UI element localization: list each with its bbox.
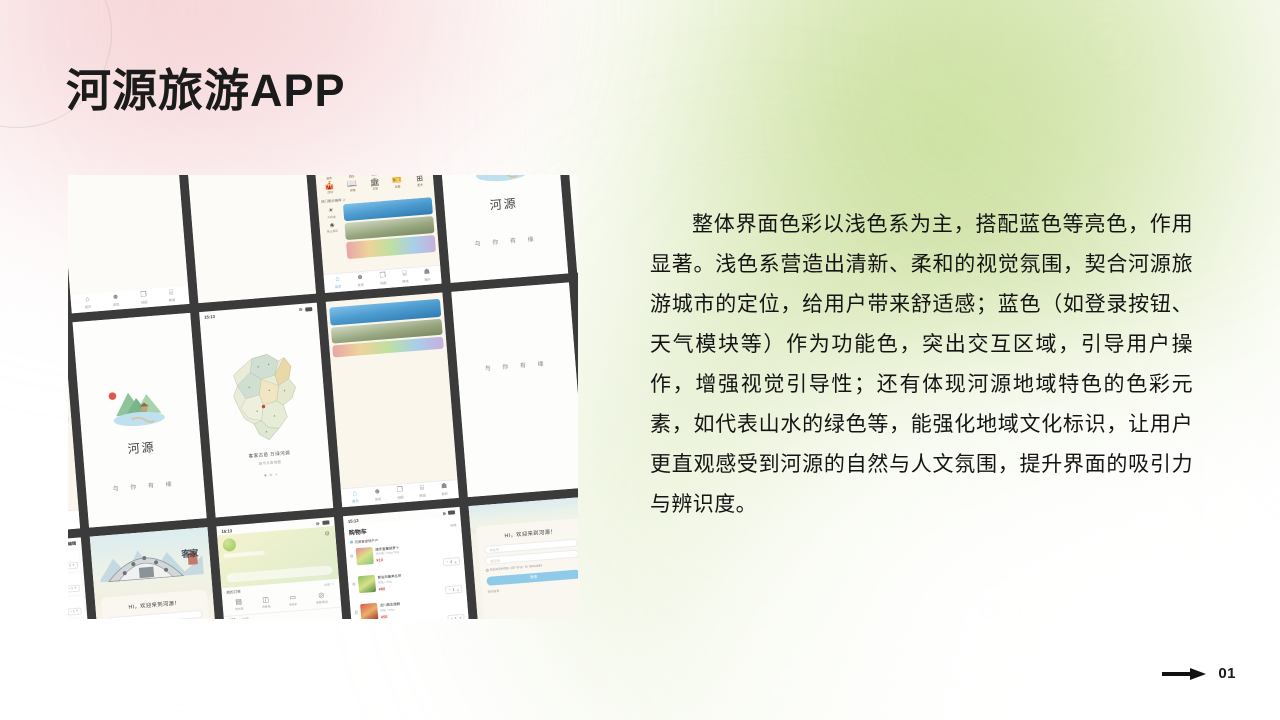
phone-content: ⚙ 我的订单 全部 ＞ ▤待付款 ◫待使用 ▭待评价 ◎退款/售后 bbox=[217, 526, 349, 619]
tab-profile[interactable]: ☗我的 bbox=[441, 482, 448, 495]
order-action[interactable]: ◫待使用 bbox=[261, 595, 270, 609]
grid-item[interactable]: 📖攻略 bbox=[341, 179, 363, 193]
tab-label: 发现 bbox=[357, 282, 364, 287]
battery-icon bbox=[448, 511, 455, 515]
order-action[interactable]: ◎退款/售后 bbox=[315, 591, 328, 605]
map-subcaption: 城市文旅地图 bbox=[258, 459, 281, 466]
map-icon: ❒ bbox=[379, 272, 386, 279]
avatar[interactable] bbox=[222, 538, 236, 552]
quantity-stepper[interactable]: − 1 ＋ bbox=[445, 585, 462, 594]
phone-screen-home-bottom-partial: ⌂首页 ☻发现 ❒地图 ⌸商城 ☗我的 bbox=[325, 293, 459, 507]
home-icon: ⌂ bbox=[85, 296, 90, 303]
checkbox-icon[interactable] bbox=[486, 569, 489, 572]
grid-item[interactable]: 🏛文旅 bbox=[364, 177, 386, 191]
hakka-seal-text: 客家 bbox=[181, 546, 198, 560]
quantity-stepper[interactable]: − 2 ＋ bbox=[443, 557, 460, 566]
tab-follow[interactable]: 关注 bbox=[228, 618, 236, 619]
side-shortcut[interactable]: ☀万绿湖 bbox=[321, 206, 342, 219]
side-shortcuts[interactable]: ☀万绿湖 ❀桂山景区 bbox=[321, 204, 346, 271]
svg-text:⛰: ⛰ bbox=[268, 363, 270, 366]
phone-screen-profile: 15:13 ⊪ ⚙ 我的订单 全部 ＞ ▤待付款 bbox=[216, 517, 350, 619]
login-screen: 客家 HI，欢迎来到河源！ 手机号 验证码 获取验证码 我已阅读并同意《用户协议… bbox=[90, 527, 224, 619]
carousel-dots[interactable] bbox=[264, 473, 277, 476]
side-shortcut[interactable]: ❀桂山景区 bbox=[322, 221, 343, 234]
phone-screen-map-top: 15:13 ⊪⌃ bbox=[182, 175, 316, 303]
page-number: 01 bbox=[1218, 665, 1236, 682]
svg-text:⛰: ⛰ bbox=[249, 386, 251, 389]
product-info: 龙川鱼生腊肠 规格／400g ¥50 − 1 ＋ bbox=[380, 596, 465, 619]
quantity-stepper[interactable]: − 1 ＋ bbox=[448, 614, 465, 619]
page-title: 河源旅游APP bbox=[66, 66, 346, 116]
phone-content: 河源 与 你 有 缘 bbox=[72, 313, 206, 527]
tab-shop[interactable]: ⌸商城 bbox=[419, 484, 426, 497]
password-login-link[interactable]: 密码登录 bbox=[488, 589, 500, 594]
mountain-lake-illustration bbox=[99, 381, 178, 434]
tab-map[interactable]: ❒地图 bbox=[140, 292, 147, 305]
grid-label: 酒店 bbox=[349, 175, 355, 178]
phone-screen-login: 客家 HI，欢迎来到河源！ 手机号 验证码 获取验证码 我已阅读并同意《用户协议… bbox=[90, 527, 224, 619]
more-icon: ⊞ bbox=[416, 175, 423, 183]
action-label: 待付款 bbox=[235, 606, 244, 611]
grid-item[interactable]: 🎪活动 bbox=[319, 181, 341, 195]
comment-icon: ▭ bbox=[289, 593, 296, 602]
signal-icon: ⊪ bbox=[316, 521, 320, 526]
profile-header: ⚙ bbox=[217, 526, 339, 588]
svg-text:⛰: ⛰ bbox=[269, 389, 271, 392]
photo-cards[interactable] bbox=[343, 197, 438, 269]
person-icon: ☗ bbox=[423, 269, 430, 276]
cart-screen: 购物车 编辑 河源客家特产户 康禾蜜薯胡萝卜 净含量／50 bbox=[343, 515, 475, 619]
dot[interactable] bbox=[270, 473, 273, 476]
arrow-right-icon bbox=[1162, 668, 1206, 680]
phone-content bbox=[182, 175, 315, 303]
battery-icon bbox=[305, 307, 312, 311]
status-time: 15:13 bbox=[348, 518, 359, 524]
wallet-icon: ▤ bbox=[235, 597, 242, 606]
signal-icon: ⊪ bbox=[299, 307, 303, 312]
shop-name: 河源客家特产户 bbox=[354, 537, 378, 544]
map-caption: 客家古邑 万绿河源 bbox=[248, 450, 290, 459]
tab-label: 地图 bbox=[397, 494, 404, 499]
phone-content: 河源 与 你 有 缘 bbox=[434, 175, 568, 283]
home-screen-partial bbox=[325, 293, 457, 488]
map-icon: ❒ bbox=[397, 486, 404, 493]
product-thumbnail bbox=[360, 603, 378, 619]
shop-icon: ⌸ bbox=[420, 484, 425, 491]
product-info: 康禾蜜薯胡萝卜 净含量／500g 750g ¥10 − 2 ＋ bbox=[375, 540, 460, 572]
cart-title: 购物车 bbox=[348, 526, 367, 536]
phone-content bbox=[325, 293, 457, 488]
tab-map[interactable]: ❒地图 bbox=[379, 272, 386, 285]
tab-label: 商城 bbox=[168, 297, 175, 302]
quantity-value: 1 bbox=[73, 609, 75, 613]
splash-tagline: 与 你 有 缘 bbox=[484, 359, 549, 373]
splash-title: 河源 bbox=[489, 194, 518, 213]
splash-screen-partial: 与 你 有 缘 bbox=[452, 283, 578, 497]
svg-text:⛰: ⛰ bbox=[257, 410, 259, 413]
refund-icon: ◎ bbox=[318, 591, 325, 599]
grid-label: 温泉 bbox=[326, 176, 332, 180]
product-thumbnail bbox=[355, 547, 373, 565]
home-icon: ⌂ bbox=[335, 276, 340, 283]
collage-grid: 热门景点推荐 ＞ ⌂首页 ☻发现 ❒地图 ⌸商城 ☗我的 ⌂首页 ☻发现 ❒地图… bbox=[68, 175, 578, 619]
svg-text:⛰: ⛰ bbox=[266, 430, 268, 433]
svg-text:⛰: ⛰ bbox=[284, 389, 286, 392]
gear-icon[interactable]: ⚙ bbox=[324, 530, 330, 537]
tab-home[interactable]: ⌂首页 bbox=[84, 296, 91, 309]
status-time: 15:13 bbox=[204, 314, 215, 320]
tab-shop[interactable]: ⌸商城 bbox=[168, 289, 175, 302]
order-action[interactable]: ▭待评价 bbox=[288, 593, 297, 607]
grid-item[interactable]: 🎫购票 bbox=[386, 175, 408, 189]
map-screen[interactable]: ⛰⛰ ⛰⛰ ⛰⛰ ⛰⛰ 客家古邑 万绿河源 城市文旅地图 bbox=[200, 312, 333, 517]
tab-map[interactable]: ❒地图 bbox=[396, 486, 403, 499]
page-indicator: 01 bbox=[1162, 665, 1236, 682]
nickname-placeholder bbox=[223, 550, 264, 557]
tab-feed[interactable]: 动态 bbox=[242, 617, 250, 619]
shop-icon: ⌸ bbox=[169, 289, 174, 296]
phone-screen-cart: 15:13 ⊪ 购物车 编辑 河源客家特产户 bbox=[342, 506, 476, 619]
tab-home[interactable]: ⌂首页 bbox=[351, 490, 358, 503]
quantity-stepper[interactable]: − 2 ＋ bbox=[68, 561, 78, 569]
leaf-icon: ❀ bbox=[329, 221, 335, 228]
signal-icon: ⊪ bbox=[442, 511, 446, 516]
member-bar[interactable] bbox=[226, 565, 332, 582]
bottom-tabbar[interactable]: ❒地图 ⌸商城 ☗我的 bbox=[68, 509, 80, 537]
phone-content: 与 你 有 缘 bbox=[452, 283, 578, 497]
phone-content: HI，欢迎来到河源！ 手机号 验证码 我已阅读并同意《用户协议》和《隐私政策》 … bbox=[469, 496, 578, 619]
grid-label: 活动 bbox=[327, 190, 333, 194]
side-label: 桂山景区 bbox=[327, 229, 338, 234]
phone-content: ⌖ 搜索景点 河源市 31° 晴 东南风3级 空气优 24~35℃ 🏠民宿 bbox=[309, 175, 441, 274]
quantity-value: 1 bbox=[452, 588, 454, 592]
splash-title: 河源 bbox=[127, 438, 156, 457]
map-icon: ❒ bbox=[140, 292, 147, 299]
splash-screen: 河源 与 你 有 缘 bbox=[434, 175, 568, 283]
orders-more[interactable]: 全部 ＞ bbox=[324, 583, 334, 588]
grid-label: 购票 bbox=[395, 185, 401, 189]
grid-item[interactable]: ♨温泉 bbox=[317, 175, 339, 181]
shop-icon: ⌸ bbox=[402, 271, 407, 278]
tab-label: 商城 bbox=[402, 279, 409, 284]
tab-label: 首页 bbox=[352, 498, 359, 503]
compass-icon: ☻ bbox=[356, 274, 364, 282]
tab-label: 首页 bbox=[85, 304, 92, 309]
body-paragraph: 整体界面色彩以浅色系为主，搭配蓝色等亮色，作用显著。浅色系营造出清新、柔和的视觉… bbox=[650, 205, 1193, 525]
tab-discover[interactable]: ☻发现 bbox=[112, 294, 120, 308]
status-time: 15:13 bbox=[221, 528, 232, 534]
edit-label[interactable]: 编辑 bbox=[68, 540, 76, 547]
tab-label: 发现 bbox=[375, 496, 382, 501]
tab-profile[interactable]: ☗我的 bbox=[423, 269, 430, 282]
quantity-stepper[interactable]: − 1 ＋ bbox=[68, 607, 82, 615]
dot[interactable] bbox=[275, 473, 278, 476]
quantity-value: 1 bbox=[71, 586, 73, 590]
home-screen: ⌖ 搜索景点 河源市 31° 晴 东南风3级 空气优 24~35℃ 🏠民宿 bbox=[309, 175, 441, 274]
ticket-icon: ◫ bbox=[262, 595, 269, 604]
splash-tagline: 与 你 有 缘 bbox=[474, 234, 539, 248]
grid-label: 更多 bbox=[417, 183, 423, 187]
book-icon: 📖 bbox=[347, 180, 358, 189]
profile-screen: ⚙ 我的订单 全部 ＞ ▤待付款 ◫待使用 ▭待评价 ◎退款/售后 bbox=[217, 526, 349, 619]
quantity-value: 2 bbox=[69, 563, 71, 567]
phone-content: 购物车 编辑 河源客家特产户 康禾蜜薯胡萝卜 净含量／50 bbox=[343, 515, 475, 619]
tab-home[interactable]: ⌂首页 bbox=[334, 276, 341, 289]
tab-discover[interactable]: ☻发现 bbox=[356, 274, 364, 288]
dot[interactable] bbox=[264, 474, 267, 477]
battery-icon bbox=[322, 521, 329, 525]
quantity-value: 2 bbox=[450, 560, 452, 564]
tab-label: 发现 bbox=[113, 302, 120, 307]
phone-screen-splash: 河源 与 你 有 缘 bbox=[72, 313, 206, 527]
tab-label: 地图 bbox=[141, 300, 148, 305]
phone-screen-login-right-partial: HI，欢迎来到河源！ 手机号 验证码 我已阅读并同意《用户协议》和《隐私政策》 … bbox=[469, 496, 578, 619]
quantity-stepper[interactable]: − 1 ＋ bbox=[68, 584, 80, 592]
grid-label: 交通 bbox=[371, 175, 377, 176]
phone-screen-splash-tagline-partial: 与 你 有 缘 bbox=[452, 283, 578, 497]
svg-text:⛰: ⛰ bbox=[258, 365, 260, 368]
grid-item[interactable]: ⊞更多 bbox=[409, 175, 431, 188]
phone-content bbox=[68, 175, 188, 296]
recommendation-area: ☀万绿湖 ❀桂山景区 bbox=[321, 197, 438, 271]
person-icon: ☗ bbox=[441, 482, 448, 489]
culture-icon: 🏛 bbox=[369, 178, 380, 187]
quantity-value: 1 bbox=[455, 616, 457, 619]
phone-screen-splash-right: 河源 与 你 有 缘 bbox=[434, 175, 568, 283]
cart-items: 康禾蜜薯胡萝卜 净含量／500g 750g ¥10 − 2 ＋ 紫金凤凰单丛茶 bbox=[345, 537, 474, 619]
app-screenshot-collage: 热门景点推荐 ＞ ⌂首页 ☻发现 ❒地图 ⌸商城 ☗我的 ⌂首页 ☻发现 ❒地图… bbox=[68, 175, 578, 619]
order-action[interactable]: ▤待付款 bbox=[234, 597, 243, 611]
agreement-text: 我已阅读并同意《用户协议》和《隐私政策》 bbox=[490, 564, 544, 572]
phone-screen-home: 15:13 ⌕✉ ⌖ 搜索景点 河源市 31° 晴 东南风3级 空气优 bbox=[308, 175, 442, 293]
list-item[interactable]: 龙川鱼生腊肠 规格／400g ¥50 − 1 ＋ bbox=[68, 596, 84, 619]
product-thumbnail bbox=[358, 575, 376, 593]
action-label: 待使用 bbox=[262, 604, 271, 609]
tab-shop[interactable]: ⌸商城 bbox=[401, 271, 408, 284]
tab-label: 我的 bbox=[424, 277, 431, 282]
heyuan-region-map[interactable]: ⛰⛰ ⛰⛰ ⛰⛰ ⛰⛰ bbox=[223, 350, 306, 447]
event-icon: 🎪 bbox=[324, 181, 335, 190]
compass-icon: ☻ bbox=[373, 488, 381, 496]
phone-content: 客家 HI，欢迎来到河源！ 手机号 验证码 获取验证码 我已阅读并同意《用户协议… bbox=[90, 527, 224, 619]
login-panel: HI，欢迎来到河源！ 手机号 验证码 我已阅读并同意《用户协议》和《隐私政策》 … bbox=[476, 518, 578, 619]
shop-checkbox[interactable] bbox=[349, 540, 352, 543]
tab-label: 地图 bbox=[380, 280, 387, 285]
phone-screen-tabbar-partial: ⌂首页 ☻发现 ❒地图 ⌸商城 bbox=[68, 175, 189, 314]
sun-icon: ☀ bbox=[328, 207, 334, 214]
item-checkbox[interactable] bbox=[352, 583, 355, 586]
svg-text:⛰: ⛰ bbox=[274, 414, 276, 417]
grid-item[interactable]: 🛏酒店 bbox=[340, 175, 362, 179]
action-label: 退款/售后 bbox=[316, 600, 328, 605]
tab-discover[interactable]: ☻发现 bbox=[373, 488, 381, 502]
tab-label: 商城 bbox=[419, 492, 426, 497]
grid-label: 攻略 bbox=[350, 188, 356, 192]
splash-screen: 河源 与 你 有 缘 bbox=[72, 313, 206, 527]
phone-screen-map: 15:13 ⊪ bbox=[199, 303, 333, 517]
item-checkbox[interactable] bbox=[350, 554, 353, 557]
cart-edit-button[interactable]: 编辑 bbox=[450, 523, 456, 527]
item-checkbox[interactable] bbox=[354, 611, 357, 614]
tab-label: 我的 bbox=[441, 490, 448, 495]
login-screen-partial: HI，欢迎来到河源！ 手机号 验证码 我已阅读并同意《用户协议》和《隐私政策》 … bbox=[469, 496, 578, 619]
grid-label: 文旅 bbox=[372, 186, 378, 190]
mountain-lake-illustration bbox=[461, 175, 540, 189]
ticket-icon: 🎫 bbox=[392, 176, 403, 185]
side-label: 万绿湖 bbox=[327, 214, 336, 219]
phone-content: ⛰⛰ ⛰⛰ ⛰⛰ ⛰⛰ 客家古邑 万绿河源 城市文旅地图 bbox=[200, 312, 333, 517]
action-label: 待评价 bbox=[289, 602, 298, 607]
product-info: 紫金凤凰单丛茶 规格／250g ¥60 − 1 ＋ bbox=[377, 568, 462, 600]
compass-icon: ☻ bbox=[112, 294, 120, 302]
splash-tagline: 与 你 有 缘 bbox=[112, 478, 177, 492]
home-icon: ⌂ bbox=[352, 490, 357, 497]
tab-label: 首页 bbox=[335, 284, 342, 289]
